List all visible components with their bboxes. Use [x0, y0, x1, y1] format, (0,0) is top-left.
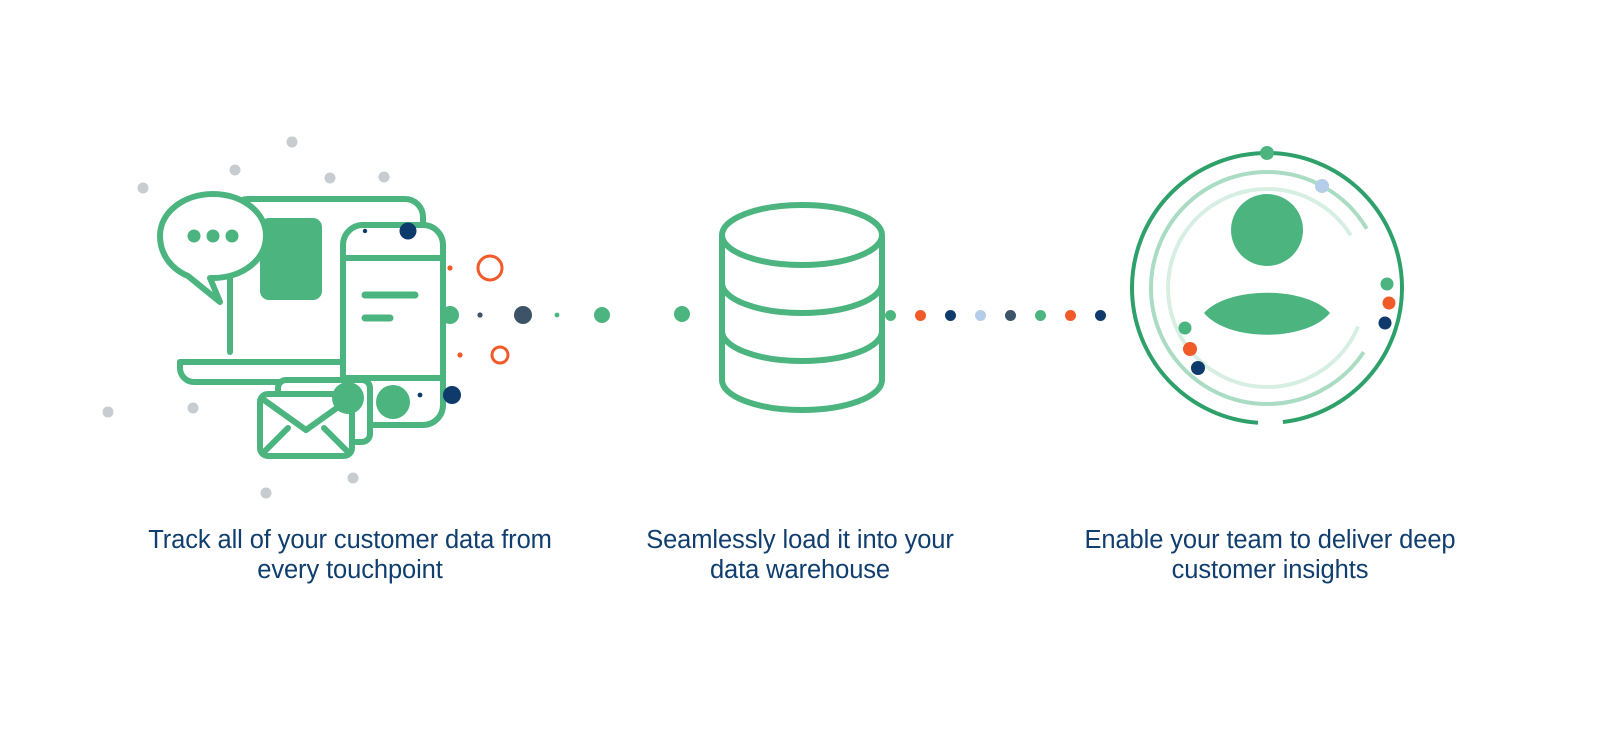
- laptop-screen-thumbnail: [260, 218, 322, 300]
- warehouse-lead-in-dot: [674, 306, 690, 322]
- step-track-customer-data: Track all of your customer data from eve…: [60, 0, 640, 730]
- connector-dot-row: [885, 300, 1015, 330]
- connector-dot: [945, 310, 956, 321]
- orbit-navy-left: [1191, 361, 1205, 375]
- orbit-green-left: [1179, 322, 1192, 335]
- orbit-orange-left: [1183, 342, 1197, 356]
- orbit-green-right: [1381, 278, 1394, 291]
- avatar-body: [1204, 293, 1330, 335]
- orbit-ring-outer: [1132, 153, 1402, 423]
- connector-dot: [885, 310, 896, 321]
- orbit-orange-right: [1383, 297, 1396, 310]
- connector-dot: [915, 310, 926, 321]
- user-avatar-orbit-icon: [1000, 90, 1540, 510]
- caption-load-line-2: data warehouse: [640, 556, 960, 586]
- db-divider-2: [722, 331, 882, 361]
- caption-track: Track all of your customer data from eve…: [60, 526, 640, 585]
- orbit-lightblue-upper: [1315, 179, 1329, 193]
- data-flow-connector: [885, 300, 1015, 330]
- db-divider-1: [722, 283, 882, 313]
- green-comet-right: [555, 307, 610, 323]
- step-deliver-customer-insights: Enable your team to deliver deep custome…: [1000, 0, 1540, 730]
- step-load-to-warehouse: Seamlessly load it into your data wareho…: [640, 0, 960, 730]
- db-bottom: [722, 380, 882, 410]
- caption-load-line-1: Seamlessly load it into your: [640, 526, 960, 556]
- orbit-green-top: [1260, 146, 1274, 160]
- connector-dot: [975, 310, 986, 321]
- caption-insight-line-1: Enable your team to deliver deep: [1000, 526, 1540, 556]
- caption-insight-line-2: customer insights: [1000, 556, 1540, 586]
- caption-insight: Enable your team to deliver deep custome…: [1000, 526, 1540, 585]
- illustration-stage: Track all of your customer data from eve…: [0, 0, 1605, 730]
- orange-ring-upper: [447, 256, 502, 280]
- db-top-ellipse: [722, 205, 882, 265]
- devices-chat-email-icon: [60, 90, 640, 510]
- slate-comet-mid: [477, 306, 532, 324]
- chat-bubble-icon: [160, 194, 266, 302]
- orbit-dots: [1179, 146, 1396, 375]
- orange-ring-lower: [457, 347, 508, 363]
- caption-track-line-2: every touchpoint: [60, 556, 640, 586]
- envelope-icon: [260, 380, 370, 456]
- caption-load: Seamlessly load it into your data wareho…: [640, 526, 960, 585]
- avatar-head: [1231, 194, 1303, 266]
- caption-track-line-1: Track all of your customer data from: [60, 526, 640, 556]
- orbit-navy-right: [1379, 317, 1392, 330]
